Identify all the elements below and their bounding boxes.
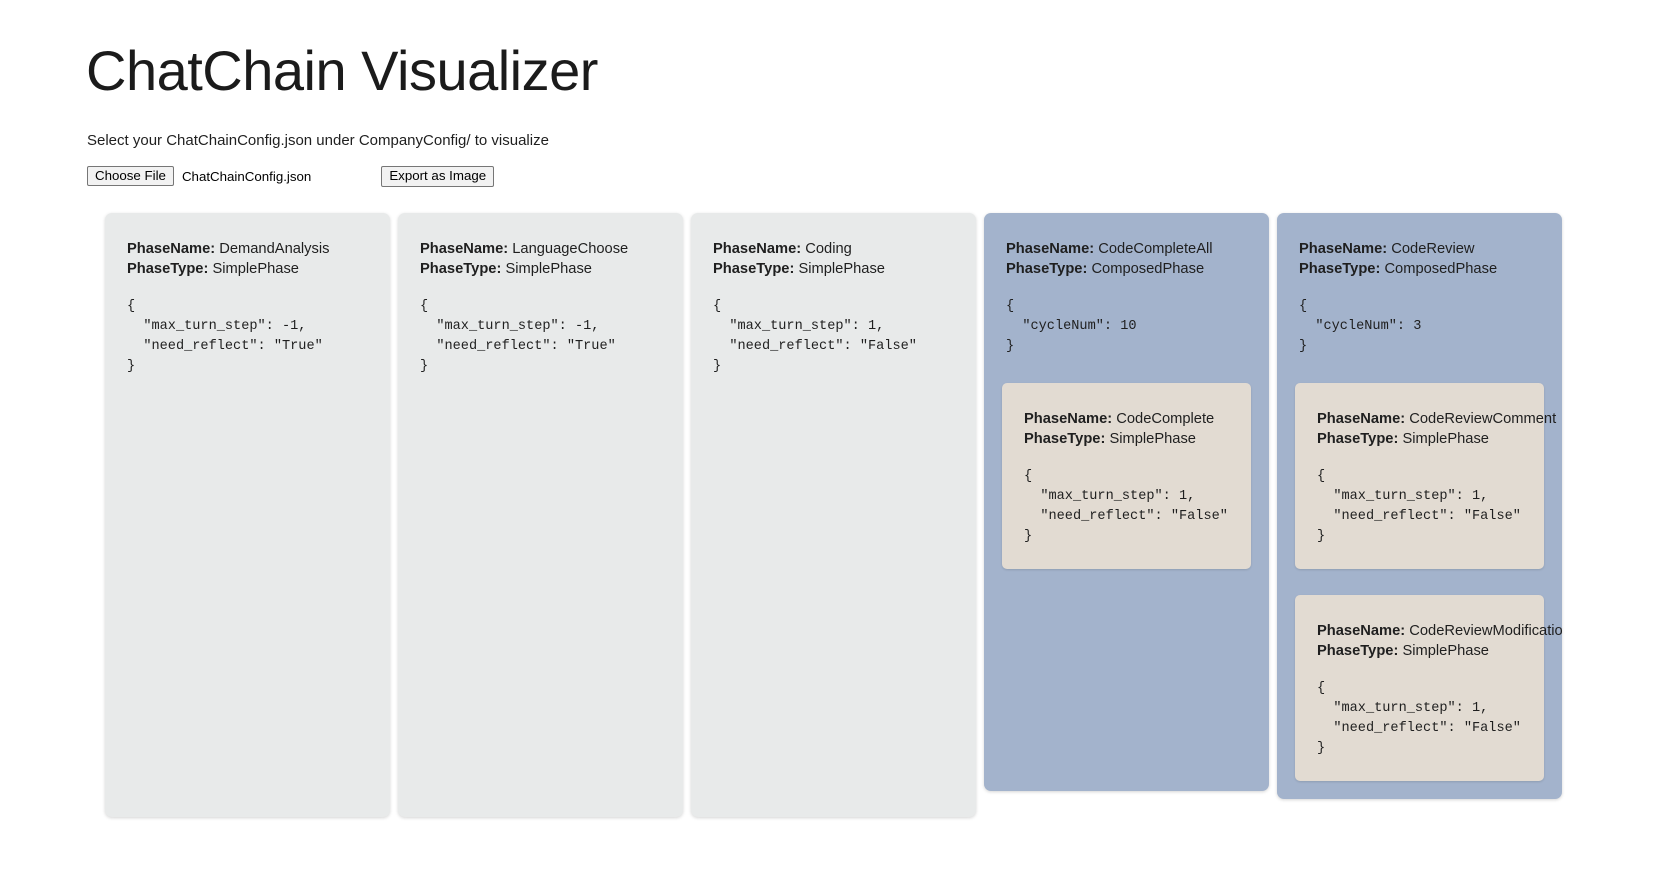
phase-type-line: PhaseType: SimplePhase [420, 259, 661, 279]
phase-type-value: SimplePhase [208, 261, 299, 277]
composed-phase-card[interactable]: PhaseName: CodeReviewPhaseType: Composed… [1277, 213, 1562, 799]
export-as-image-button[interactable]: Export as Image [381, 166, 494, 187]
phase-meta: PhaseName: CodeReviewCommentPhaseType: S… [1317, 409, 1522, 449]
phase-type-key: PhaseType: [127, 261, 208, 277]
phase-type-key: PhaseType: [420, 261, 501, 277]
phase-type-value: ComposedPhase [1380, 261, 1497, 277]
phase-type-value: SimplePhase [794, 261, 885, 277]
phase-name-key: PhaseName: [127, 241, 215, 257]
phase-name-line: PhaseName: CodeReviewModification [1317, 621, 1522, 641]
phase-config-json: { "max_turn_step": 1, "need_reflect": "F… [713, 297, 954, 377]
phase-name-key: PhaseName: [1317, 623, 1405, 639]
sub-phase-card[interactable]: PhaseName: CodeCompletePhaseType: Simple… [1002, 383, 1251, 569]
chat-chain-container: PhaseName: DemandAnalysisPhaseType: Simp… [105, 213, 1562, 817]
page-subtitle: Select your ChatChainConfig.json under C… [87, 131, 549, 151]
phase-type-line: PhaseType: ComposedPhase [1299, 259, 1540, 279]
phase-name-line: PhaseName: Coding [713, 239, 954, 259]
phase-type-line: PhaseType: SimplePhase [1317, 641, 1522, 661]
phase-type-line: PhaseType: SimplePhase [1024, 429, 1229, 449]
phase-config-json: { "max_turn_step": 1, "need_reflect": "F… [1317, 679, 1522, 759]
phase-name-line: PhaseName: CodeComplete [1024, 409, 1229, 429]
simple-phase-card[interactable]: PhaseName: DemandAnalysisPhaseType: Simp… [105, 213, 390, 817]
phase-config-json: { "cycleNum": 10 } [1006, 297, 1247, 357]
phase-type-line: PhaseType: SimplePhase [1317, 429, 1522, 449]
phase-type-value: SimplePhase [1398, 431, 1489, 447]
phase-name-value: CodeReviewModification [1405, 623, 1562, 639]
phase-type-key: PhaseType: [1317, 431, 1398, 447]
phase-type-value: SimplePhase [1105, 431, 1196, 447]
phase-name-value: CodeReviewComment [1405, 411, 1556, 427]
phase-name-line: PhaseName: LanguageChoose [420, 239, 661, 259]
phase-config-json: { "max_turn_step": -1, "need_reflect": "… [420, 297, 661, 377]
phase-name-line: PhaseName: DemandAnalysis [127, 239, 368, 259]
phase-type-line: PhaseType: SimplePhase [713, 259, 954, 279]
phase-config-json: { "cycleNum": 3 } [1299, 297, 1540, 357]
phase-meta: PhaseName: LanguageChoosePhaseType: Simp… [420, 239, 661, 279]
phase-name-key: PhaseName: [1006, 241, 1094, 257]
phase-meta: PhaseName: CodeReviewModificationPhaseTy… [1317, 621, 1522, 661]
phase-name-key: PhaseName: [1317, 411, 1405, 427]
phase-name-value: Coding [801, 241, 852, 257]
phase-type-value: ComposedPhase [1087, 261, 1204, 277]
phase-name-key: PhaseName: [713, 241, 801, 257]
phase-name-value: CodeComplete [1112, 411, 1214, 427]
file-input[interactable]: Choose File ChatChainConfig.json [87, 166, 311, 187]
choose-file-button[interactable]: Choose File [87, 166, 174, 186]
simple-phase-card[interactable]: PhaseName: LanguageChoosePhaseType: Simp… [398, 213, 683, 817]
phase-name-key: PhaseName: [420, 241, 508, 257]
phase-name-value: CodeCompleteAll [1094, 241, 1212, 257]
phase-name-value: LanguageChoose [508, 241, 628, 257]
phase-meta: PhaseName: CodingPhaseType: SimplePhase [713, 239, 954, 279]
page-title: ChatChain Visualizer [86, 40, 598, 103]
app-root: ChatChain Visualizer Select your ChatCha… [0, 0, 1658, 892]
phase-config-json: { "max_turn_step": 1, "need_reflect": "F… [1024, 467, 1229, 547]
phase-name-line: PhaseName: CodeCompleteAll [1006, 239, 1247, 259]
phase-type-value: SimplePhase [1398, 643, 1489, 659]
sub-phase-card[interactable]: PhaseName: CodeReviewModificationPhaseTy… [1295, 595, 1544, 781]
phase-type-key: PhaseType: [1299, 261, 1380, 277]
phase-type-line: PhaseType: ComposedPhase [1006, 259, 1247, 279]
phase-type-key: PhaseType: [713, 261, 794, 277]
phase-meta: PhaseName: CodeCompletePhaseType: Simple… [1024, 409, 1229, 449]
composed-phase-card[interactable]: PhaseName: CodeCompleteAllPhaseType: Com… [984, 213, 1269, 791]
phase-config-json: { "max_turn_step": -1, "need_reflect": "… [127, 297, 368, 377]
phase-meta: PhaseName: DemandAnalysisPhaseType: Simp… [127, 239, 368, 279]
phase-name-key: PhaseName: [1024, 411, 1112, 427]
phase-type-key: PhaseType: [1024, 431, 1105, 447]
phase-name-line: PhaseName: CodeReview [1299, 239, 1540, 259]
simple-phase-card[interactable]: PhaseName: CodingPhaseType: SimplePhase{… [691, 213, 976, 817]
phase-type-key: PhaseType: [1006, 261, 1087, 277]
phase-name-value: CodeReview [1387, 241, 1474, 257]
phase-name-value: DemandAnalysis [215, 241, 329, 257]
sub-phase-card[interactable]: PhaseName: CodeReviewCommentPhaseType: S… [1295, 383, 1544, 569]
phase-type-value: SimplePhase [501, 261, 592, 277]
selected-file-name: ChatChainConfig.json [182, 169, 311, 184]
phase-type-line: PhaseType: SimplePhase [127, 259, 368, 279]
phase-name-key: PhaseName: [1299, 241, 1387, 257]
phase-meta: PhaseName: CodeReviewPhaseType: Composed… [1299, 239, 1540, 279]
controls-bar: Choose File ChatChainConfig.json Export … [87, 165, 494, 187]
phase-type-key: PhaseType: [1317, 643, 1398, 659]
phase-meta: PhaseName: CodeCompleteAllPhaseType: Com… [1006, 239, 1247, 279]
phase-name-line: PhaseName: CodeReviewComment [1317, 409, 1522, 429]
phase-config-json: { "max_turn_step": 1, "need_reflect": "F… [1317, 467, 1522, 547]
